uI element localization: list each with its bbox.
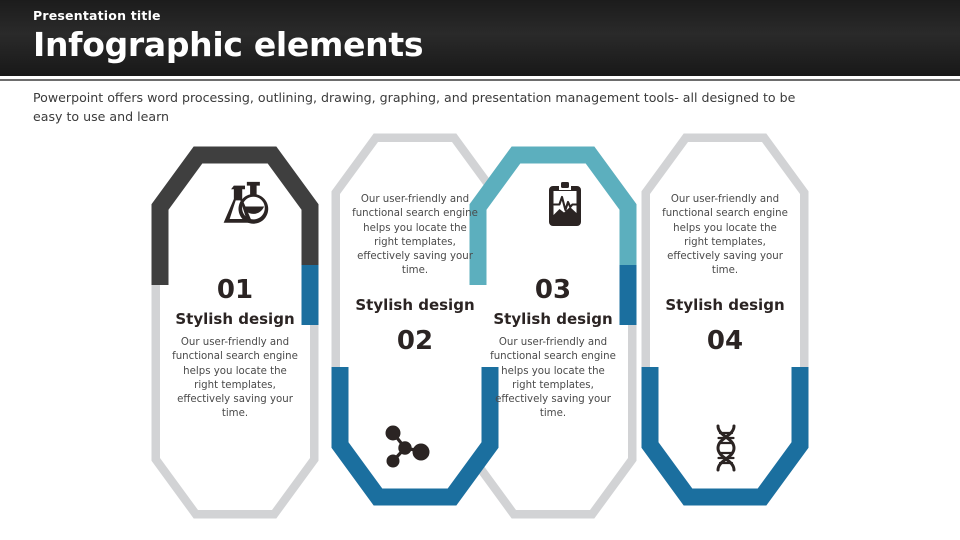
- step-number-4: 04: [650, 326, 800, 356]
- slide-subtitle: Powerpoint offers word processing, outli…: [33, 88, 823, 126]
- step-title-3: Stylish design: [473, 308, 633, 330]
- step-desc-1: Our user-friendly and functional search …: [172, 336, 298, 422]
- step-desc-3: Our user-friendly and functional search …: [490, 336, 616, 422]
- slide-header: Presentation title Infographic elements: [0, 0, 960, 76]
- dna-icon: [696, 422, 756, 474]
- page-title: Infographic elements: [33, 25, 960, 65]
- step-3-description: Our user-friendly and functional search …: [490, 336, 616, 422]
- molecule-icon: [376, 422, 436, 474]
- header-divider: [0, 79, 960, 81]
- step-desc-4: Our user-friendly and functional search …: [662, 193, 788, 279]
- step-2-description: Our user-friendly and functional search …: [352, 193, 478, 279]
- step-3-number: 03: [478, 275, 628, 305]
- clipboard-pulse-icon: [535, 180, 595, 232]
- lab-flasks-icon: [215, 180, 275, 232]
- step-3-title: Stylish design: [473, 308, 633, 330]
- step-1-description: Our user-friendly and functional search …: [172, 336, 298, 422]
- step-1-title: Stylish design: [155, 308, 315, 330]
- step-number-3: 03: [478, 275, 628, 305]
- step-title-1: Stylish design: [155, 308, 315, 330]
- step-title-4: Stylish design: [645, 294, 805, 316]
- step-number-2: 02: [340, 326, 490, 356]
- step-2-title: Stylish design: [335, 294, 495, 316]
- presentation-kicker: Presentation title: [33, 8, 960, 24]
- step-desc-2: Our user-friendly and functional search …: [352, 193, 478, 279]
- step-4-description: Our user-friendly and functional search …: [662, 193, 788, 279]
- infographic-stage: 01 Stylish design Our user-friendly and …: [0, 130, 960, 540]
- step-2-number: 02: [340, 326, 490, 356]
- step-4-title: Stylish design: [645, 294, 805, 316]
- step-1-number: 01: [160, 275, 310, 305]
- step-4-number: 04: [650, 326, 800, 356]
- step-title-2: Stylish design: [335, 294, 495, 316]
- step-number-1: 01: [160, 275, 310, 305]
